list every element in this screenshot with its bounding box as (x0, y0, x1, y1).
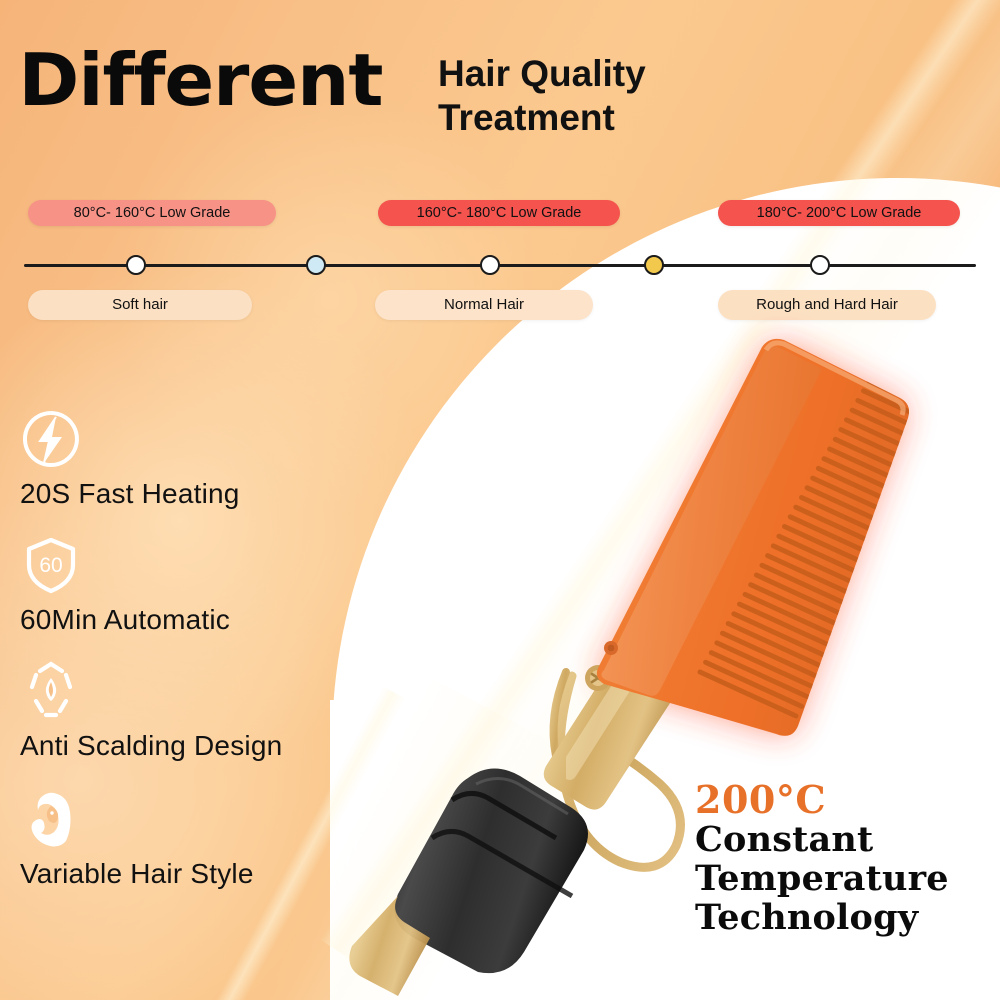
feature-item-4: Variable Hair Style (20, 788, 254, 890)
feature-label-3: Anti Scalding Design (20, 730, 282, 762)
flame-shield-icon (20, 660, 282, 722)
page-title-bold: Different (18, 44, 382, 116)
grade-label-2: 160°C- 180°C Low Grade (378, 200, 620, 226)
page-title-subtitle-line1: Hair Quality (438, 53, 646, 94)
temperature-scale: 80°C- 160°C Low Grade160°C- 180°C Low Gr… (0, 200, 1000, 335)
scale-dot-4[interactable] (644, 255, 664, 275)
page-title-subtitle-line2: Treatment (438, 97, 615, 138)
feature-label-1: 20S Fast Heating (20, 478, 240, 510)
tech-line-3: Technology (695, 898, 995, 937)
scale-track (24, 264, 976, 267)
infographic-canvas: Different Hair Quality Treatment 80°C- 1… (0, 0, 1000, 1000)
hair-type-label-3: Rough and Hard Hair (718, 290, 936, 320)
temperature-value: 200°C (695, 780, 995, 820)
shield-60-icon: 60 (20, 534, 230, 596)
tech-line-2: Temperature (695, 859, 995, 898)
page-title-subtitle: Hair Quality Treatment (438, 52, 738, 139)
svg-text:60: 60 (39, 554, 62, 577)
feature-label-4: Variable Hair Style (20, 858, 254, 890)
feature-label-2: 60Min Automatic (20, 604, 230, 636)
grade-label-3: 180°C- 200°C Low Grade (718, 200, 960, 226)
lightning-bolt-icon (20, 408, 240, 470)
hair-type-label-1: Soft hair (28, 290, 252, 320)
scale-dot-1[interactable] (126, 255, 146, 275)
feature-item-2: 6060Min Automatic (20, 534, 230, 636)
constant-temperature-block: 200°C Constant Temperature Technology (695, 780, 995, 937)
feature-item-3: Anti Scalding Design (20, 660, 282, 762)
scale-dot-5[interactable] (810, 255, 830, 275)
hair-type-label-2: Normal Hair (375, 290, 593, 320)
hair-woman-icon (20, 788, 254, 850)
grade-label-1: 80°C- 160°C Low Grade (28, 200, 276, 226)
header: Different Hair Quality Treatment (0, 44, 1000, 144)
feature-item-1: 20S Fast Heating (20, 408, 240, 510)
scale-dot-2[interactable] (306, 255, 326, 275)
tech-line-1: Constant (695, 820, 995, 859)
scale-dot-3[interactable] (480, 255, 500, 275)
